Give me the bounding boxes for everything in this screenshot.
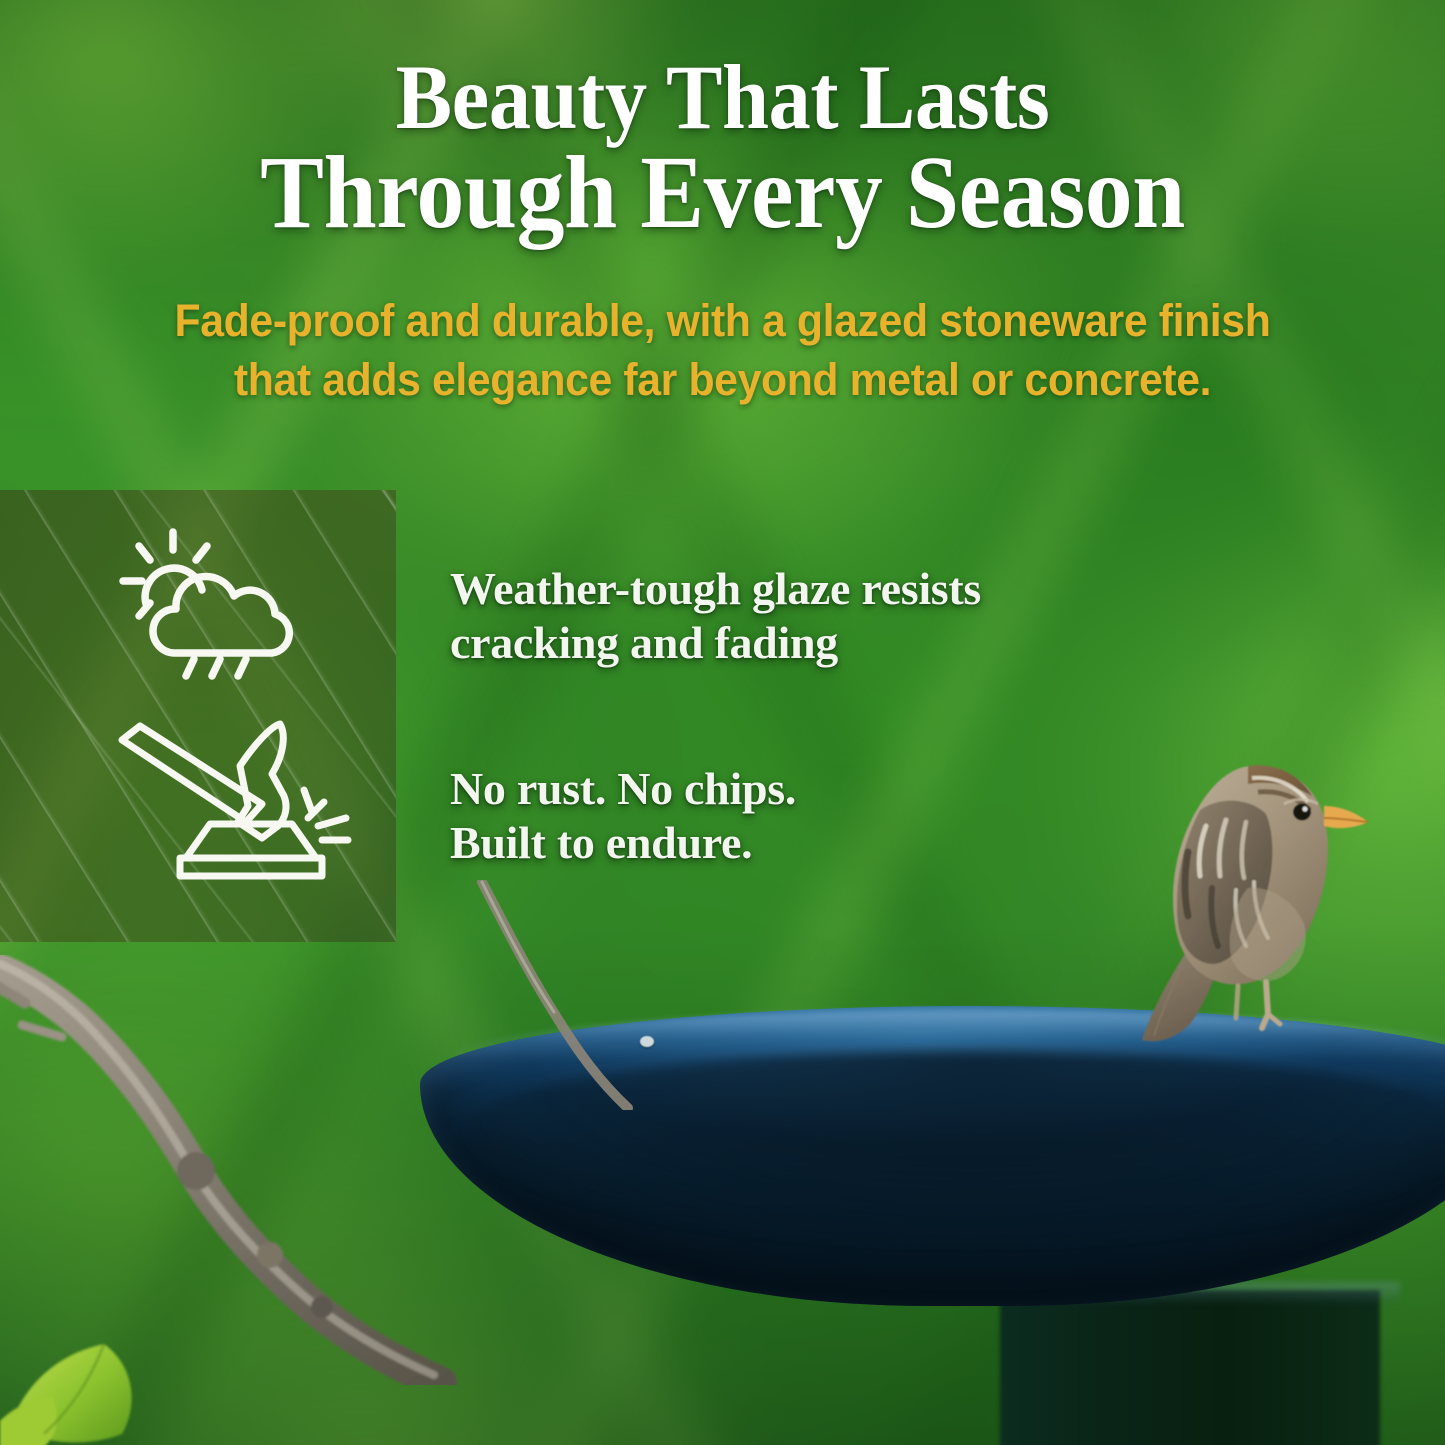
headline-line-2: Through Every Season	[113, 142, 1332, 244]
feature-item-1-text: Weather-tough glaze resists cracking and…	[450, 562, 981, 671]
subheadline-line-1: Fade-proof and durable, with a glazed st…	[82, 292, 1364, 351]
headline-line-1: Beauty That Lasts	[113, 52, 1332, 142]
tree-branch-foreground	[0, 955, 470, 1385]
feature-2-line-1: No rust. No chips.	[450, 762, 796, 816]
product-feature-banner: Beauty That Lasts Through Every Season F…	[0, 0, 1445, 1445]
feature-1-line-1: Weather-tough glaze resists	[450, 562, 981, 616]
feature-1-line-2: cracking and fading	[450, 616, 981, 670]
page-subtitle: Fade-proof and durable, with a glazed st…	[82, 292, 1364, 409]
subheadline-line-2: that adds elegance far beyond metal or c…	[82, 351, 1364, 410]
page-title: Beauty That Lasts Through Every Season	[113, 52, 1332, 244]
tree-twig-behind-birdbath	[470, 880, 640, 1110]
hammer-anvil-impact-icon	[112, 718, 354, 882]
green-leaf-cluster	[0, 1330, 210, 1445]
feature-2-line-2: Built to endure.	[450, 816, 796, 870]
feature-item-2-text: No rust. No chips. Built to endure.	[450, 762, 796, 871]
sparrow-bird	[1128, 748, 1388, 1048]
sun-cloud-rain-icon	[112, 528, 330, 680]
